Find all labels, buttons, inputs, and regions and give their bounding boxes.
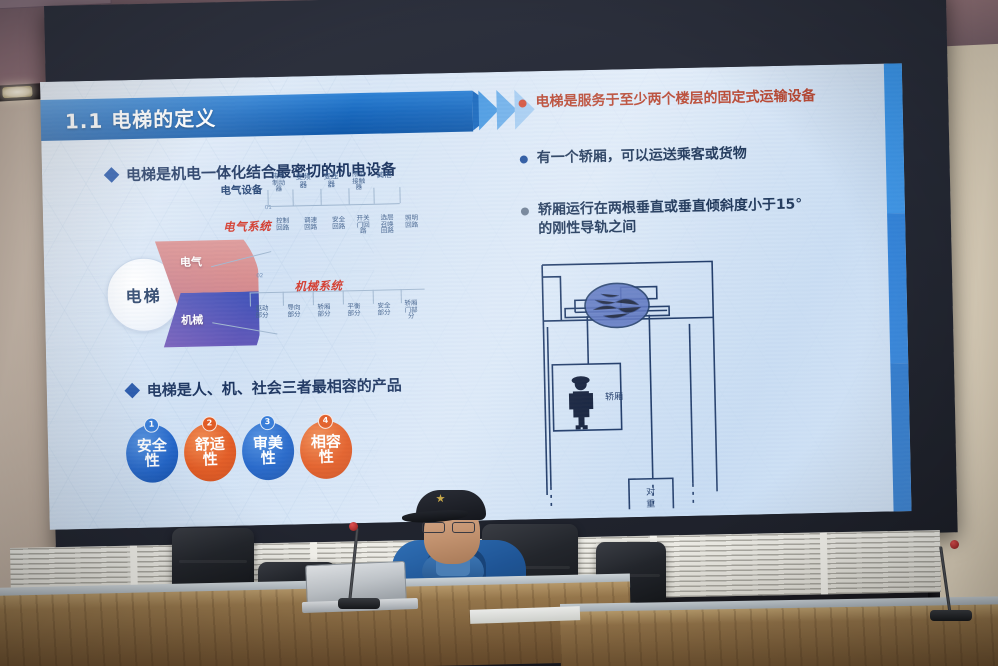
mechanical-part-5: 轿厢门部分 <box>404 300 418 320</box>
fan-arcs <box>150 239 260 347</box>
microphone-base-right <box>930 610 972 621</box>
electrical-group-label: 电气设备 <box>214 185 268 197</box>
attribute-circle-4-line2: 性 <box>319 450 334 466</box>
mechanical-part-3: 平衡部分 <box>345 303 363 316</box>
attribute-circle-1-line2: 性 <box>145 453 160 469</box>
counterweight-label-line2: 重 <box>646 498 655 510</box>
microphone-head-right <box>950 540 959 549</box>
fan-arc-mechanical <box>150 291 260 347</box>
fan-arc-mechanical-label: 机械 <box>181 314 203 326</box>
electrical-circuit-3: 开关门回路 <box>356 215 370 235</box>
mechanical-part-4: 安全部分 <box>375 302 393 315</box>
electrical-device-0: 电机制动器 <box>270 173 287 193</box>
electrical-system-label: 电气系统 <box>223 218 271 235</box>
page-title: 1.1 电梯的定义 <box>65 102 217 134</box>
electrical-circuit-0: 控制回路 <box>274 218 291 231</box>
chair-left <box>172 528 254 590</box>
attribute-circle-2-line2: 性 <box>203 452 218 468</box>
counterweight-label-line1: 对 <box>646 486 655 498</box>
microphone-base-left <box>338 598 380 609</box>
electrical-circuit-4: 选层召唤回路 <box>380 214 394 234</box>
fan-arc-electrical-label: 电气 <box>180 257 202 269</box>
mechanical-part-2: 轿厢部分 <box>315 304 333 317</box>
electrical-circuit-5: 照明回路 <box>403 215 420 228</box>
bullet-dot-icon-2 <box>520 155 528 163</box>
attribute-circle-2-number: 2 <box>202 416 217 431</box>
mechanical-part-0: 驱动部分 <box>253 305 271 318</box>
presentation-slide: 1.1 电梯的定义 电梯是机电一体化结合最密切的机电设备 电梯 电气 机械 <box>40 63 912 530</box>
electrical-circuit-2: 安全回路 <box>330 216 347 229</box>
right-bullet-3-text: 轿厢运行在两根垂直或垂直倾斜度小于15° 的刚性导轨之间 <box>538 195 803 239</box>
mechanical-part-1: 导向部分 <box>285 304 303 317</box>
traction-sheave-icon <box>585 283 650 328</box>
diamond-bullet-icon-2 <box>124 383 140 399</box>
electrical-device-2: 变压器 <box>322 172 340 187</box>
electrical-device-3: 限位接触器 <box>350 171 367 191</box>
right-bullet-3: 轿厢运行在两根垂直或垂直倾斜度小于15° 的刚性导轨之间 <box>521 193 900 240</box>
electrical-device-1: 变频器 <box>294 173 312 188</box>
microphone-head-left <box>349 522 358 531</box>
bullet-dot-icon-3 <box>521 207 529 215</box>
mechanical-tag: 02 <box>256 273 263 279</box>
electrical-circuit-1: 调速回路 <box>302 217 319 230</box>
car-label: 轿厢 <box>605 390 623 402</box>
diamond-bullet-icon <box>104 167 120 183</box>
elevator-schematic: 轿厢 对 重 <box>516 245 752 512</box>
attribute-circle-3-number: 3 <box>260 415 275 430</box>
attribute-circle-1-number: 1 <box>144 417 159 432</box>
passenger-icon <box>569 376 594 430</box>
attribute-circle-3-line2: 性 <box>261 451 276 467</box>
glasses-icon <box>422 522 482 533</box>
electrical-device-4: 其他 <box>376 171 392 179</box>
screenshot-root: 1.1 电梯的定义 电梯是机电一体化结合最密切的机电设备 电梯 电气 机械 <box>0 0 998 666</box>
bullet-dot-icon-1 <box>518 99 526 107</box>
attribute-circle-4-number: 4 <box>318 414 333 429</box>
